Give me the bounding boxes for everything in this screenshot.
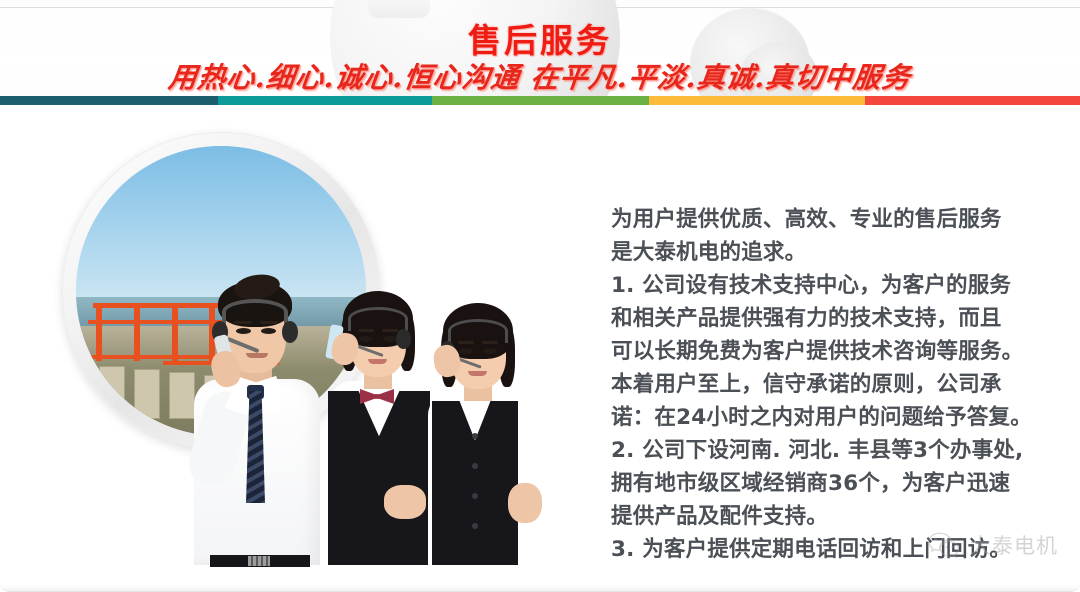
- description-line: 为用户提供优质、高效、专业的售后服务: [611, 203, 1031, 236]
- description-line: 1. 公司设有技术支持中心，为客户的服务: [611, 269, 1031, 302]
- accent-color-bar: [0, 96, 1080, 105]
- color-bar-segment-dark-teal: [0, 96, 218, 105]
- agent-male-eye: [236, 328, 251, 334]
- agent-female-right-hand-on-hip: [508, 483, 542, 523]
- headset-icon: [448, 319, 508, 343]
- color-bar-segment-red: [865, 96, 1080, 105]
- watermark-label: 大泰电机: [970, 530, 1058, 560]
- photo-gantry-crane: [172, 303, 178, 361]
- page-title: 售后服务: [0, 14, 1080, 62]
- agent-male-eye: [261, 328, 276, 334]
- photo-gantry-crane: [134, 303, 140, 361]
- description-line: 是大泰机电的追求。: [611, 236, 1031, 269]
- agent-female-center-eye: [383, 336, 397, 342]
- wechat-watermark: 大泰电机: [927, 530, 1058, 560]
- photo-concrete-block: [99, 366, 125, 418]
- agent-female-right-button: [472, 433, 478, 439]
- description-line: 可以长期免费为客户提供技术咨询等服务。: [611, 335, 1031, 368]
- description-line: 诺：在24小时之内对用户的问题给予答复。: [611, 401, 1031, 434]
- slide-page: 售后服务 用热心.细心.诚心.恒心沟通 在平凡.平淡.真诚.真切中服务: [0, 0, 1080, 592]
- headset-earpiece: [396, 329, 411, 349]
- wechat-icon: [927, 531, 961, 559]
- customer-service-agents: [178, 273, 548, 565]
- agent-female-right-eye: [459, 348, 473, 354]
- color-bar-segment-teal: [218, 96, 432, 105]
- service-description-text: 为用户提供优质、高效、专业的售后服务是大泰机电的追求。1. 公司设有技术支持中心…: [611, 203, 1031, 566]
- agent-female-center-mouth: [368, 359, 387, 364]
- agent-male-mouth: [246, 353, 268, 358]
- agent-female-right-eye: [483, 348, 497, 354]
- agent-female-center-eye: [359, 336, 373, 342]
- agent-female-center-hand-resting: [384, 485, 426, 519]
- slide-header: 售后服务 用热心.细心.诚心.恒心沟通 在平凡.平淡.真诚.真切中服务: [0, 0, 1080, 104]
- agent-female-right-button: [472, 523, 478, 529]
- page-subtitle: 用热心.细心.诚心.恒心沟通 在平凡.平淡.真诚.真切中服务: [0, 56, 1080, 96]
- photo-concrete-block: [134, 369, 160, 418]
- description-line: 和相关产品提供强有力的技术支持，而且: [611, 302, 1031, 335]
- color-bar-segment-green: [432, 96, 649, 105]
- agent-female-right-mouth: [468, 371, 487, 376]
- headset-icon: [222, 299, 288, 325]
- slide-body: 为用户提供优质、高效、专业的售后服务是大泰机电的追求。1. 公司设有技术支持中心…: [0, 105, 1080, 592]
- agent-female-right-button: [472, 463, 478, 469]
- description-line: 本着用户至上，信守承诺的原则，公司承: [611, 368, 1031, 401]
- headset-earpiece: [282, 321, 298, 343]
- photo-gantry-crane: [96, 303, 102, 361]
- description-line: 拥有地市级区域经销商36个，为客户迅速: [611, 467, 1031, 500]
- headset-icon: [348, 307, 408, 331]
- agent-male-belt-buckle: [248, 556, 270, 566]
- description-line: 提供产品及配件支持。: [611, 500, 1031, 533]
- color-bar-segment-yellow: [649, 96, 865, 105]
- description-line: 2. 公司下设河南. 河北. 丰县等3个办事处,: [611, 434, 1031, 467]
- agent-female-right-button: [472, 493, 478, 499]
